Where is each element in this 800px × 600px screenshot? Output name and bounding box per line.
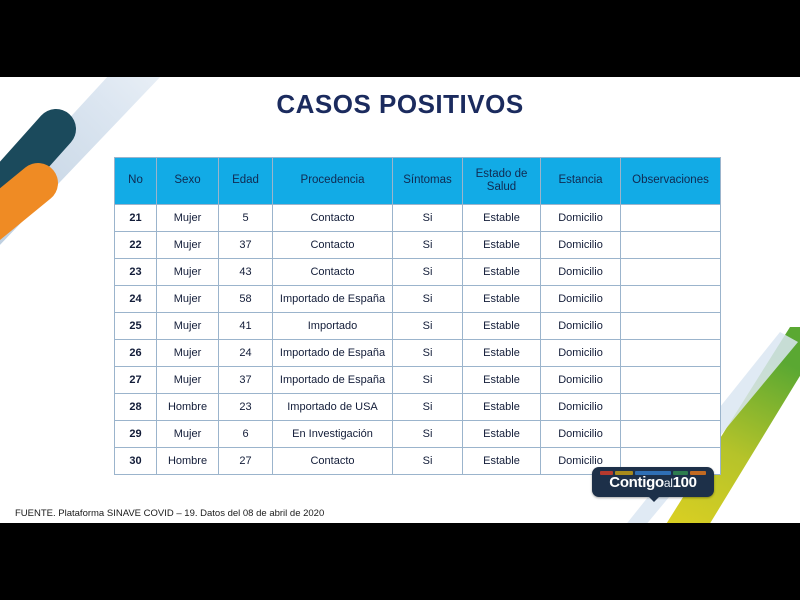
cell-estado: Estable <box>463 421 541 448</box>
cell-no: 21 <box>115 205 157 232</box>
cases-table: No Sexo Edad Procedencia Síntomas Estado… <box>114 157 721 475</box>
table-row: 21Mujer5ContactoSiEstableDomicilio <box>115 205 721 232</box>
cell-edad: 24 <box>219 340 273 367</box>
table-row: 22Mujer37ContactoSiEstableDomicilio <box>115 232 721 259</box>
cell-estado: Estable <box>463 286 541 313</box>
cell-no: 26 <box>115 340 157 367</box>
cell-procedencia: Importado de USA <box>273 394 393 421</box>
cell-estancia: Domicilio <box>541 367 621 394</box>
column-header-no: No <box>115 158 157 205</box>
cell-sexo: Mujer <box>157 259 219 286</box>
cell-observaciones <box>621 286 721 313</box>
cell-edad: 23 <box>219 394 273 421</box>
cell-observaciones <box>621 367 721 394</box>
cell-estancia: Domicilio <box>541 286 621 313</box>
table-row: 23Mujer43ContactoSiEstableDomicilio <box>115 259 721 286</box>
cell-no: 23 <box>115 259 157 286</box>
logo-wordmark: Contigoal100 <box>592 475 714 490</box>
cell-estancia: Domicilio <box>541 394 621 421</box>
column-header-sintomas: Síntomas <box>393 158 463 205</box>
cell-edad: 41 <box>219 313 273 340</box>
cell-estado: Estable <box>463 367 541 394</box>
cell-sintomas: Si <box>393 286 463 313</box>
cell-procedencia: Importado de España <box>273 286 393 313</box>
cell-edad: 37 <box>219 367 273 394</box>
logo-text-100: 100 <box>673 474 697 491</box>
table-row: 24Mujer58Importado de EspañaSiEstableDom… <box>115 286 721 313</box>
cell-observaciones <box>621 340 721 367</box>
cell-estado: Estable <box>463 394 541 421</box>
cell-estancia: Domicilio <box>541 421 621 448</box>
column-header-sexo: Sexo <box>157 158 219 205</box>
cell-estado: Estable <box>463 340 541 367</box>
cell-sintomas: Si <box>393 367 463 394</box>
cell-estado: Estable <box>463 313 541 340</box>
cell-sintomas: Si <box>393 313 463 340</box>
cell-sexo: Hombre <box>157 394 219 421</box>
cell-edad: 37 <box>219 232 273 259</box>
cell-sexo: Mujer <box>157 367 219 394</box>
logo-bubble-tail <box>648 496 660 502</box>
cell-edad: 27 <box>219 448 273 475</box>
table-row: 28Hombre23Importado de USASiEstableDomic… <box>115 394 721 421</box>
cell-sexo: Hombre <box>157 448 219 475</box>
cell-sexo: Mujer <box>157 340 219 367</box>
cell-sexo: Mujer <box>157 232 219 259</box>
cell-observaciones <box>621 205 721 232</box>
cell-sintomas: Si <box>393 448 463 475</box>
screen: CASOS POSITIVOS No Sexo Edad Procedencia… <box>0 0 800 600</box>
table-row: 29Mujer6En InvestigaciónSiEstableDomicil… <box>115 421 721 448</box>
column-header-estado-salud: Estado de Salud <box>463 158 541 205</box>
cell-sexo: Mujer <box>157 313 219 340</box>
cell-no: 27 <box>115 367 157 394</box>
column-header-edad: Edad <box>219 158 273 205</box>
logo-text-al: al <box>664 476 673 490</box>
cell-procedencia: Importado de España <box>273 340 393 367</box>
cell-sintomas: Si <box>393 340 463 367</box>
cell-sintomas: Si <box>393 394 463 421</box>
cell-sexo: Mujer <box>157 286 219 313</box>
cell-estado: Estable <box>463 205 541 232</box>
cell-estancia: Domicilio <box>541 232 621 259</box>
table-header-row: No Sexo Edad Procedencia Síntomas Estado… <box>115 158 721 205</box>
cell-estancia: Domicilio <box>541 205 621 232</box>
cell-estado: Estable <box>463 259 541 286</box>
cell-sintomas: Si <box>393 421 463 448</box>
cell-no: 29 <box>115 421 157 448</box>
cell-no: 30 <box>115 448 157 475</box>
cell-no: 22 <box>115 232 157 259</box>
letterbox-top-bar <box>0 0 800 77</box>
contigo-al-100-logo: Contigoal100 <box>592 467 714 501</box>
cell-no: 24 <box>115 286 157 313</box>
cell-estancia: Domicilio <box>541 313 621 340</box>
table-row: 25Mujer41ImportadoSiEstableDomicilio <box>115 313 721 340</box>
cell-sintomas: Si <box>393 205 463 232</box>
cell-observaciones <box>621 313 721 340</box>
cell-procedencia: En Investigación <box>273 421 393 448</box>
cell-sintomas: Si <box>393 259 463 286</box>
letterbox-bottom-bar <box>0 523 800 600</box>
cell-observaciones <box>621 421 721 448</box>
cell-observaciones <box>621 232 721 259</box>
cell-estado: Estable <box>463 232 541 259</box>
source-note: FUENTE. Plataforma SINAVE COVID – 19. Da… <box>15 508 324 519</box>
cell-sintomas: Si <box>393 232 463 259</box>
cell-edad: 58 <box>219 286 273 313</box>
cell-estancia: Domicilio <box>541 259 621 286</box>
table-row: 27Mujer37Importado de EspañaSiEstableDom… <box>115 367 721 394</box>
cell-edad: 43 <box>219 259 273 286</box>
page-title: CASOS POSITIVOS <box>0 89 800 120</box>
column-header-estancia: Estancia <box>541 158 621 205</box>
slide: CASOS POSITIVOS No Sexo Edad Procedencia… <box>0 77 800 523</box>
cell-edad: 5 <box>219 205 273 232</box>
cell-sexo: Mujer <box>157 205 219 232</box>
table-row: 26Mujer24Importado de EspañaSiEstableDom… <box>115 340 721 367</box>
cell-no: 28 <box>115 394 157 421</box>
cell-procedencia: Contacto <box>273 205 393 232</box>
cell-procedencia: Contacto <box>273 259 393 286</box>
cell-estancia: Domicilio <box>541 340 621 367</box>
cell-procedencia: Contacto <box>273 448 393 475</box>
cases-table-body: 21Mujer5ContactoSiEstableDomicilio22Muje… <box>115 205 721 475</box>
cell-edad: 6 <box>219 421 273 448</box>
cases-table-container: No Sexo Edad Procedencia Síntomas Estado… <box>114 157 720 475</box>
cell-procedencia: Importado de España <box>273 367 393 394</box>
cell-observaciones <box>621 259 721 286</box>
column-header-observaciones: Observaciones <box>621 158 721 205</box>
cell-procedencia: Importado <box>273 313 393 340</box>
logo-text-contigo: Contigo <box>609 474 664 491</box>
cell-procedencia: Contacto <box>273 232 393 259</box>
cell-estado: Estable <box>463 448 541 475</box>
cell-sexo: Mujer <box>157 421 219 448</box>
column-header-procedencia: Procedencia <box>273 158 393 205</box>
cell-observaciones <box>621 394 721 421</box>
cell-no: 25 <box>115 313 157 340</box>
